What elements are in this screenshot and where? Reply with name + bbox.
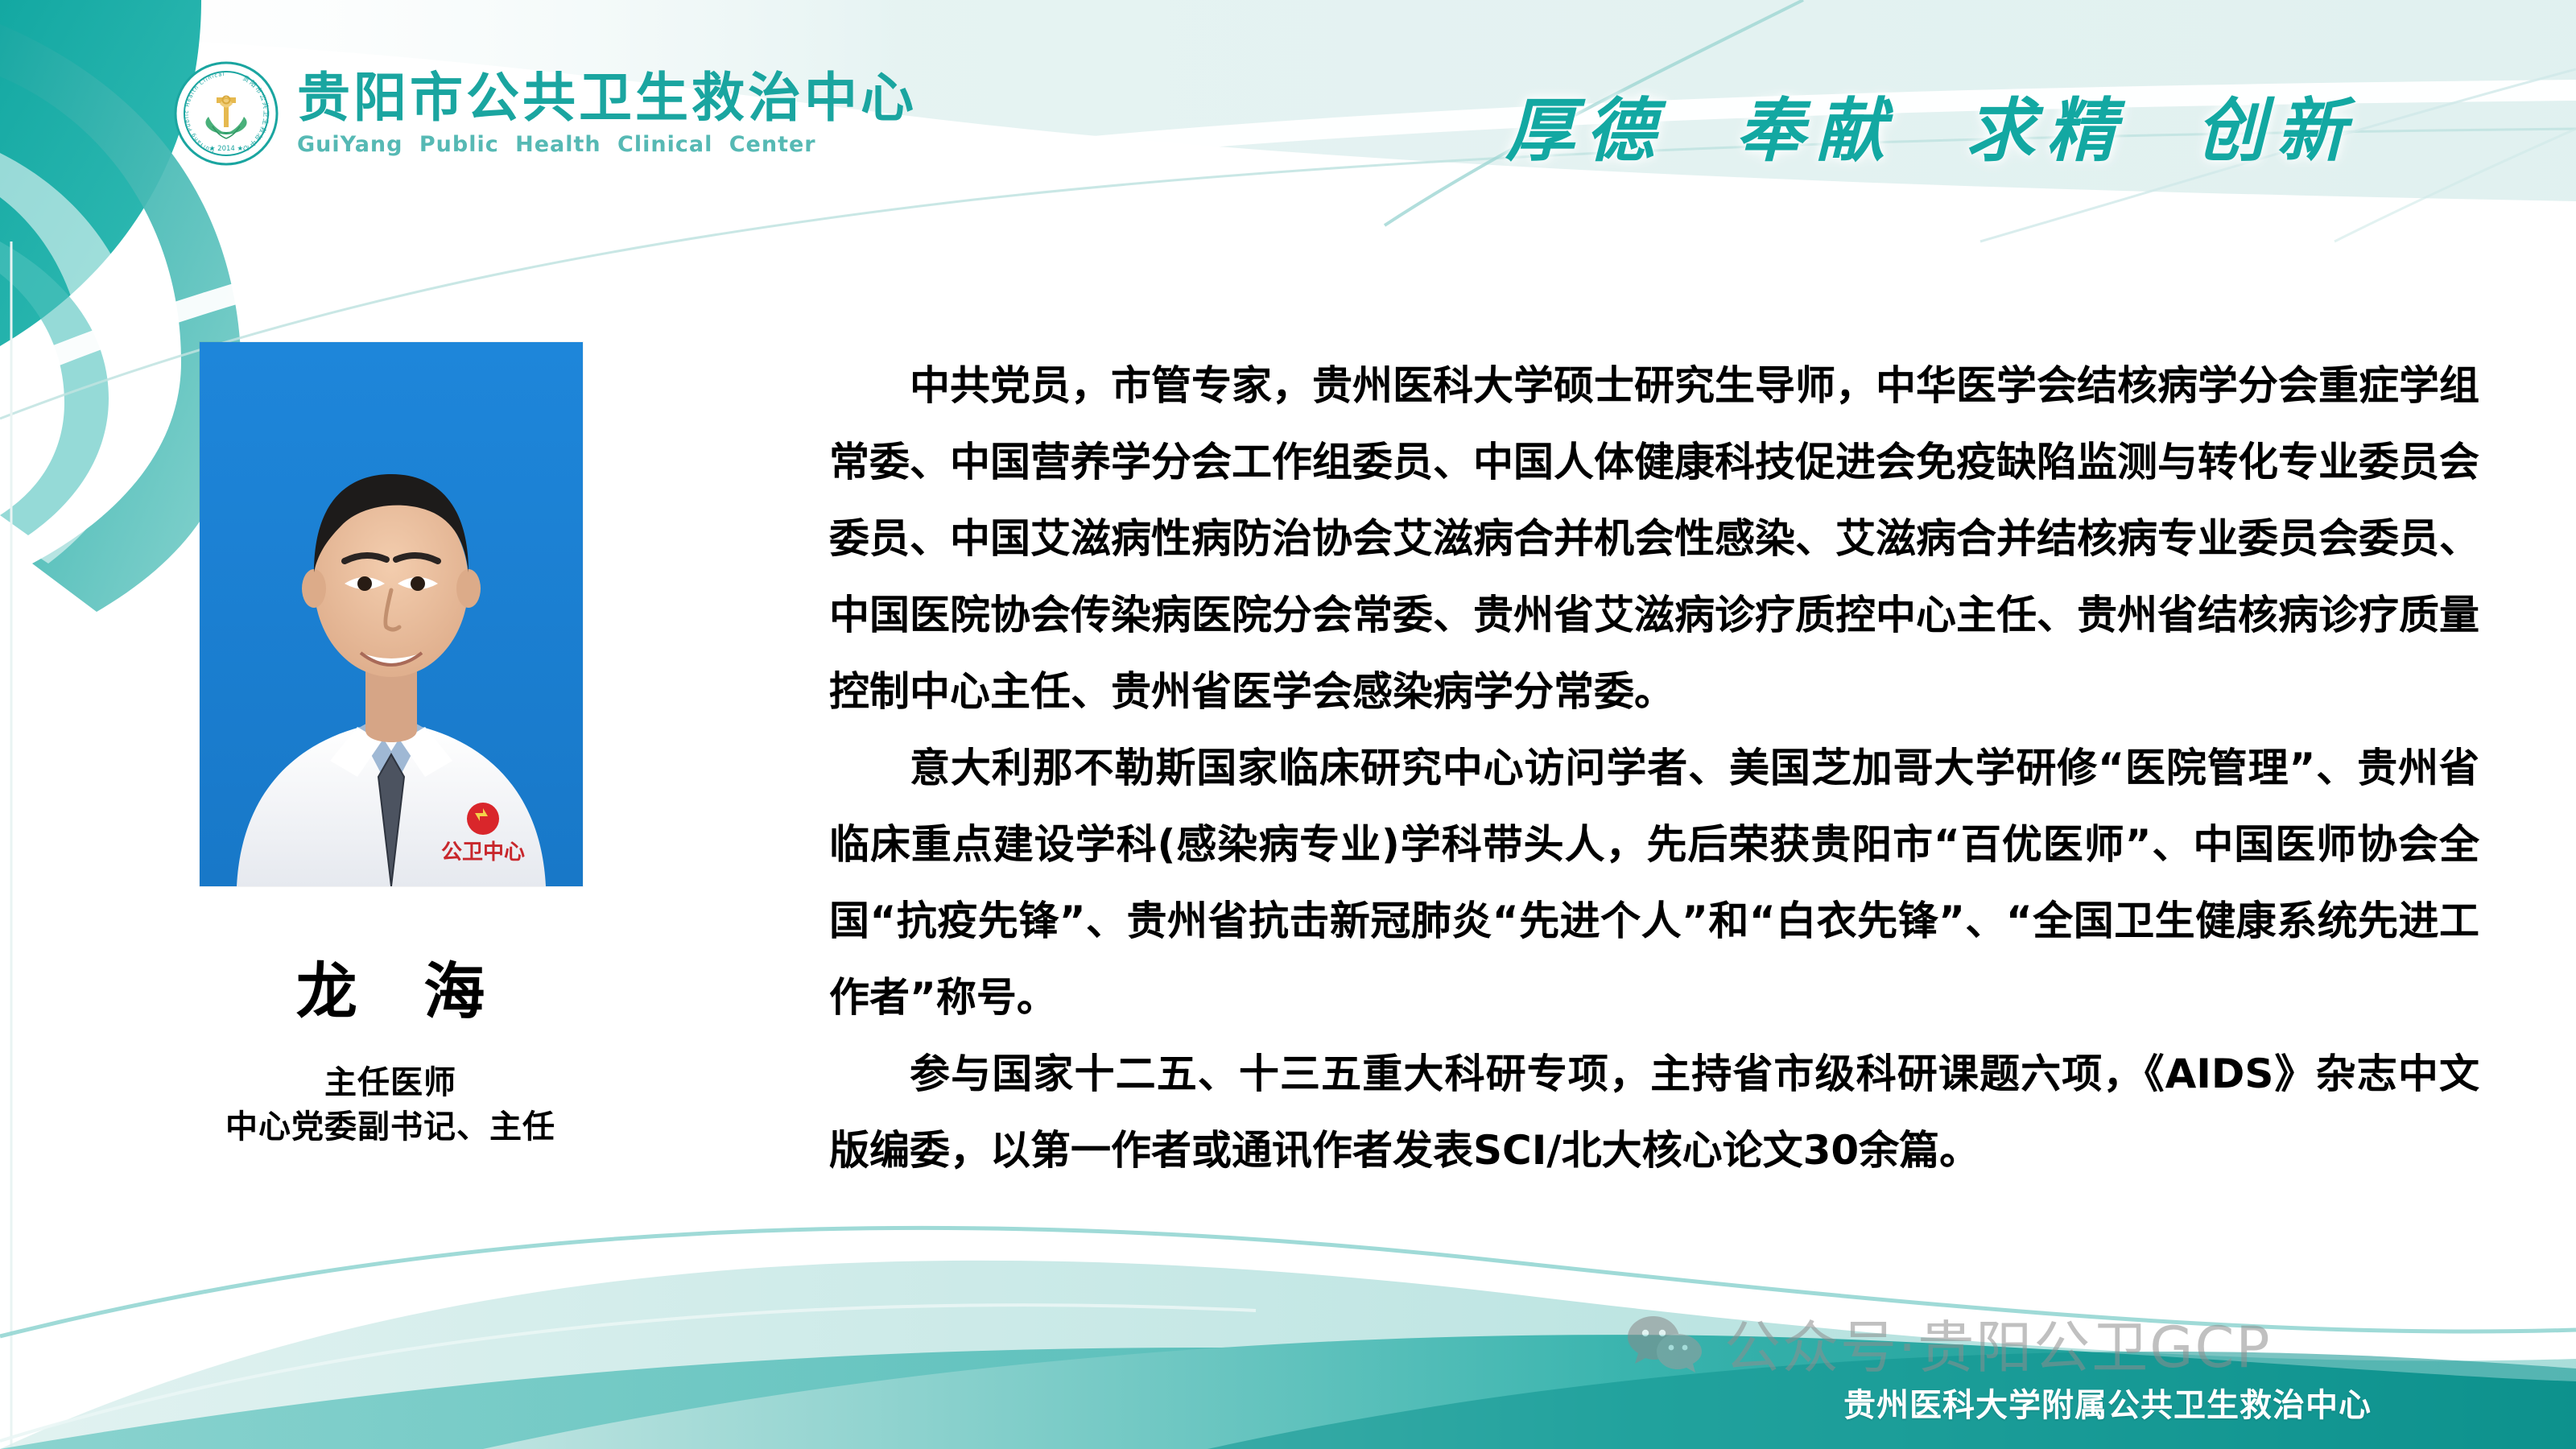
- bio-paragraph-1: 中共党员，市管专家，贵州医科大学硕士研究生导师，中华医学会结核病学分会重症学组常…: [829, 348, 2479, 730]
- organization-logo: 贵阳市公共卫生救治中心 GuiYang Public Health Clinic…: [173, 60, 917, 167]
- person-titles: 主任医师 中心党委副书记、主任: [0, 1061, 781, 1150]
- org-name-cn: 贵阳市公共卫生救治中心: [297, 70, 917, 126]
- bio-paragraph-2: 意大利那不勒斯国家临床研究中心访问学者、美国芝加哥大学研修“医院管理”、贵州省临…: [829, 730, 2479, 1036]
- motto-word-1: 厚德: [1505, 74, 1666, 175]
- slide-canvas: 贵阳市公共卫生救治中心 GuiYang Public Health Clinic…: [0, 0, 2576, 1449]
- biography-text: 中共党员，市管专家，贵州医科大学硕士研究生导师，中华医学会结核病学分会重症学组常…: [829, 348, 2479, 1189]
- motto-word-2: 奉献: [1736, 74, 1897, 175]
- institution-seal-icon: 贵阳市公共卫生救治中心 GuiYang Public Health Clinic…: [173, 60, 279, 167]
- person-title-1: 主任医师: [0, 1061, 781, 1105]
- wechat-icon: [1626, 1313, 1703, 1374]
- person-title-2: 中心党委副书记、主任: [0, 1105, 781, 1150]
- profile-photo: 公卫中心: [200, 342, 583, 886]
- bio-paragraph-3: 参与国家十二五、十三五重大科研专项，主持省市级科研课题六项，《AIDS》杂志中文…: [829, 1036, 2479, 1189]
- org-name-en: GuiYang Public Health Clinical Center: [297, 132, 917, 157]
- wechat-watermark: 公众号·贵阳公卫GCP: [1626, 1302, 2272, 1384]
- person-name: 龙 海: [0, 958, 781, 1026]
- watermark-label: 公众号·贵阳公卫GCP: [1724, 1302, 2272, 1384]
- hospital-motto: 厚德 奉献 求精 创新: [1505, 74, 2357, 175]
- seal-year-label: ★ 2014 ★: [209, 145, 244, 153]
- svg-text:公卫中心: 公卫中心: [441, 840, 525, 865]
- motto-word-4: 创新: [2196, 74, 2357, 175]
- page-header: 贵阳市公共卫生救治中心 GuiYang Public Health Clinic…: [0, 0, 2576, 242]
- motto-word-3: 求精: [1966, 74, 2127, 175]
- footer-organization-line: 贵州医科大学附属公共卫生救治中心: [1843, 1379, 2372, 1426]
